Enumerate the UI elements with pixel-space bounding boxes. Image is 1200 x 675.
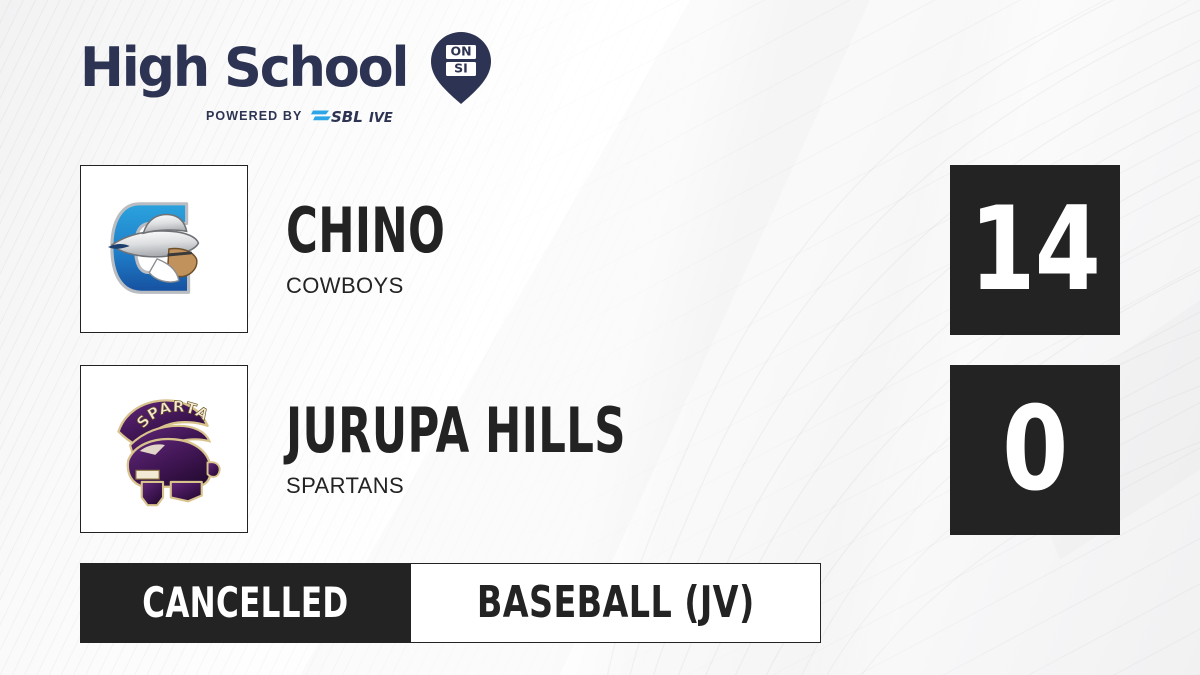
chino-cowboys-logo-icon <box>100 190 228 308</box>
team-logo-box: SPARTANS <box>80 365 248 533</box>
team-name: JURUPA HILLS <box>286 400 626 462</box>
team-mascot: COWBOYS <box>286 274 514 298</box>
pin-text-on: ON <box>451 44 472 59</box>
team-score: 14 <box>970 192 1101 308</box>
team-score: 0 <box>1002 392 1067 508</box>
team-row: CHINO COWBOYS 14 <box>80 165 1120 335</box>
sblive-wordmark-suffix: IVE <box>369 111 393 126</box>
on-si-pin-icon: ON SI <box>429 31 493 105</box>
team-row: SPARTANS JURUPA HILLS SPARTANS 0 <box>80 365 1120 535</box>
game-status-bar: CANCELLED BASEBALL (JV) <box>80 563 821 643</box>
sport-label: BASEBALL (JV) <box>477 581 755 625</box>
team-logo-box <box>80 165 248 333</box>
team-text-block: JURUPA HILLS SPARTANS <box>286 365 771 533</box>
status-badge-label: CANCELLED <box>142 582 348 624</box>
team-score-box: 0 <box>950 365 1120 535</box>
powered-by-label: POWERED BY <box>206 109 302 123</box>
team-name: CHINO <box>286 200 445 262</box>
powered-by-row: POWERED BY SBL IVE <box>80 105 510 127</box>
team-text-block: CHINO COWBOYS <box>286 165 514 333</box>
pin-text-si: SI <box>455 61 469 76</box>
sblive-wordmark-text: SBL <box>331 108 363 126</box>
team-mascot: SPARTANS <box>286 474 771 498</box>
team-score-box: 14 <box>950 165 1120 335</box>
scoreboard-graphic: High School ON SI POWERED BY <box>0 0 1200 675</box>
sblive-logo-icon: SBL IVE <box>311 105 415 127</box>
brand-primary-row: High School ON SI <box>80 36 510 100</box>
jurupa-hills-spartans-logo-icon: SPARTANS <box>101 389 227 510</box>
sport-label-panel: BASEBALL (JV) <box>411 563 821 643</box>
brand-header: High School ON SI POWERED BY <box>80 36 510 132</box>
brand-wordmark: High School <box>80 39 407 97</box>
status-badge: CANCELLED <box>80 563 411 643</box>
